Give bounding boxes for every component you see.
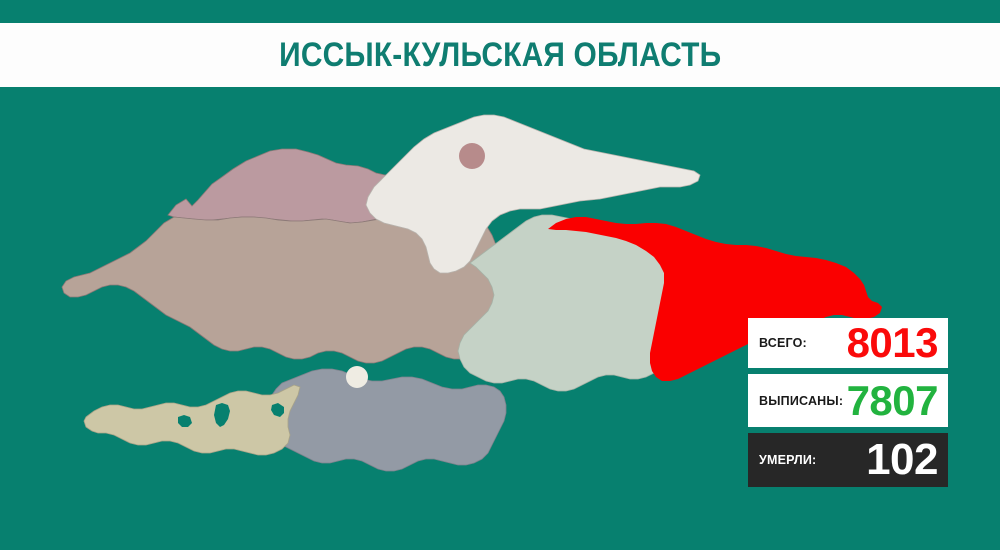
region-osh[interactable] (262, 369, 506, 471)
page-title: ИССЫК-КУЛЬСКАЯ ОБЛАСТЬ (279, 36, 721, 75)
stat-value-recovered: 7807 (847, 380, 938, 422)
top-accent-band (0, 0, 1000, 23)
osh-city-marker[interactable] (346, 366, 368, 388)
title-band: ИССЫК-КУЛЬСКАЯ ОБЛАСТЬ (0, 23, 1000, 87)
stat-row-total: ВСЕГО: 8013 (748, 318, 948, 368)
stat-row-deaths: УМЕРЛИ: 102 (748, 433, 948, 487)
stat-label-recovered: ВЫПИСАНЫ: (759, 394, 843, 408)
stats-panel: ВСЕГО: 8013 ВЫПИСАНЫ: 7807 УМЕРЛИ: 102 (748, 318, 948, 487)
region-batken[interactable] (84, 385, 300, 455)
stat-value-deaths: 102 (866, 438, 938, 482)
infographic-root: ИССЫК-КУЛЬСКАЯ ОБЛАСТЬ (0, 0, 1000, 550)
stat-label-total: ВСЕГО: (759, 336, 807, 350)
bishkek-marker[interactable] (459, 143, 485, 169)
stat-row-recovered: ВЫПИСАНЫ: 7807 (748, 374, 948, 427)
stat-value-total: 8013 (847, 322, 938, 364)
stat-label-deaths: УМЕРЛИ: (759, 453, 816, 467)
